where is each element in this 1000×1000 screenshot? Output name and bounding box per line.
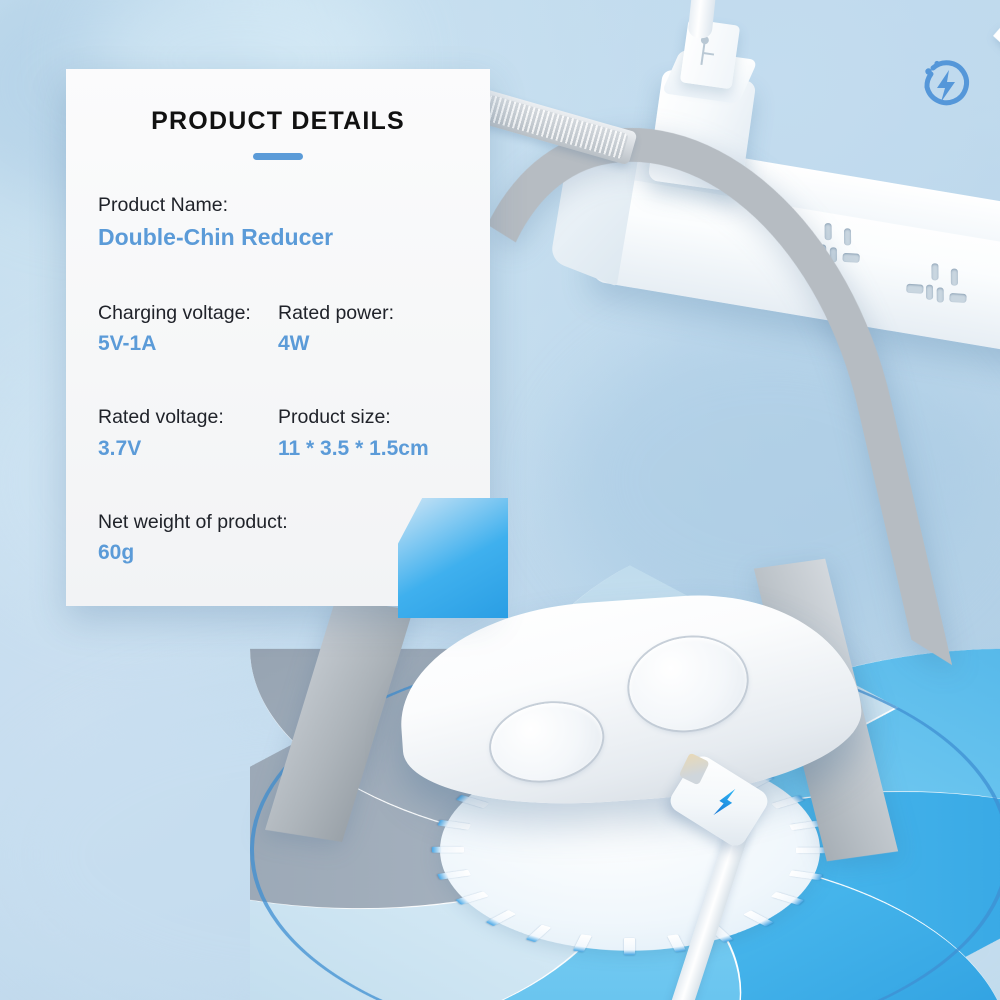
spec-value: 3.7V bbox=[98, 434, 278, 464]
spec-row: Rated voltage: 3.7V Product size: 11 * 3… bbox=[98, 404, 458, 464]
spec-value: 4W bbox=[278, 329, 458, 359]
spec-label: Rated voltage: bbox=[98, 404, 278, 430]
device-body bbox=[394, 584, 867, 816]
spec-label: Rated power: bbox=[278, 300, 458, 326]
spec-row: Charging voltage: 5V-1A Rated power: 4W bbox=[98, 300, 458, 360]
usb-icon bbox=[700, 39, 717, 67]
spec-value: Double-Chin Reducer bbox=[98, 221, 458, 254]
spacer bbox=[98, 491, 458, 509]
chin-reducer-device bbox=[400, 600, 860, 850]
electrode-pad-large bbox=[622, 628, 754, 739]
spec-item: Rated power: 4W bbox=[278, 300, 458, 360]
spacer bbox=[98, 282, 458, 300]
fast-charge-bolt-icon bbox=[915, 54, 977, 116]
title-divider bbox=[253, 153, 303, 160]
product-image-scene: PRODUCT DETAILS Product Name: Double-Chi… bbox=[0, 0, 1000, 1000]
fast-charge-badge bbox=[915, 54, 977, 116]
spec-row: Product Name: Double-Chin Reducer bbox=[98, 192, 458, 255]
electrode-pad-small bbox=[485, 695, 608, 789]
power-cable bbox=[819, 0, 1000, 318]
lightning-bolt-icon bbox=[709, 783, 742, 821]
spec-value: 11 * 3.5 * 1.5cm bbox=[278, 434, 458, 464]
spec-label: Charging voltage: bbox=[98, 300, 278, 326]
spec-label: Net weight of product: bbox=[98, 509, 458, 535]
spec-item: Rated voltage: 3.7V bbox=[98, 404, 278, 464]
spec-item: Charging voltage: 5V-1A bbox=[98, 300, 278, 360]
spacer bbox=[98, 386, 458, 404]
spec-label: Product Name: bbox=[98, 192, 458, 218]
spec-list: Product Name: Double-Chin Reducer Chargi… bbox=[98, 192, 458, 569]
spec-label: Product size: bbox=[278, 404, 458, 430]
page-title: PRODUCT DETAILS bbox=[98, 107, 458, 136]
spec-item: Product Name: Double-Chin Reducer bbox=[98, 192, 458, 255]
spec-item: Product size: 11 * 3.5 * 1.5cm bbox=[278, 404, 458, 464]
card-overlap-mask bbox=[398, 498, 508, 618]
disc-tick bbox=[628, 850, 632, 956]
spec-value: 5V-1A bbox=[98, 329, 278, 359]
